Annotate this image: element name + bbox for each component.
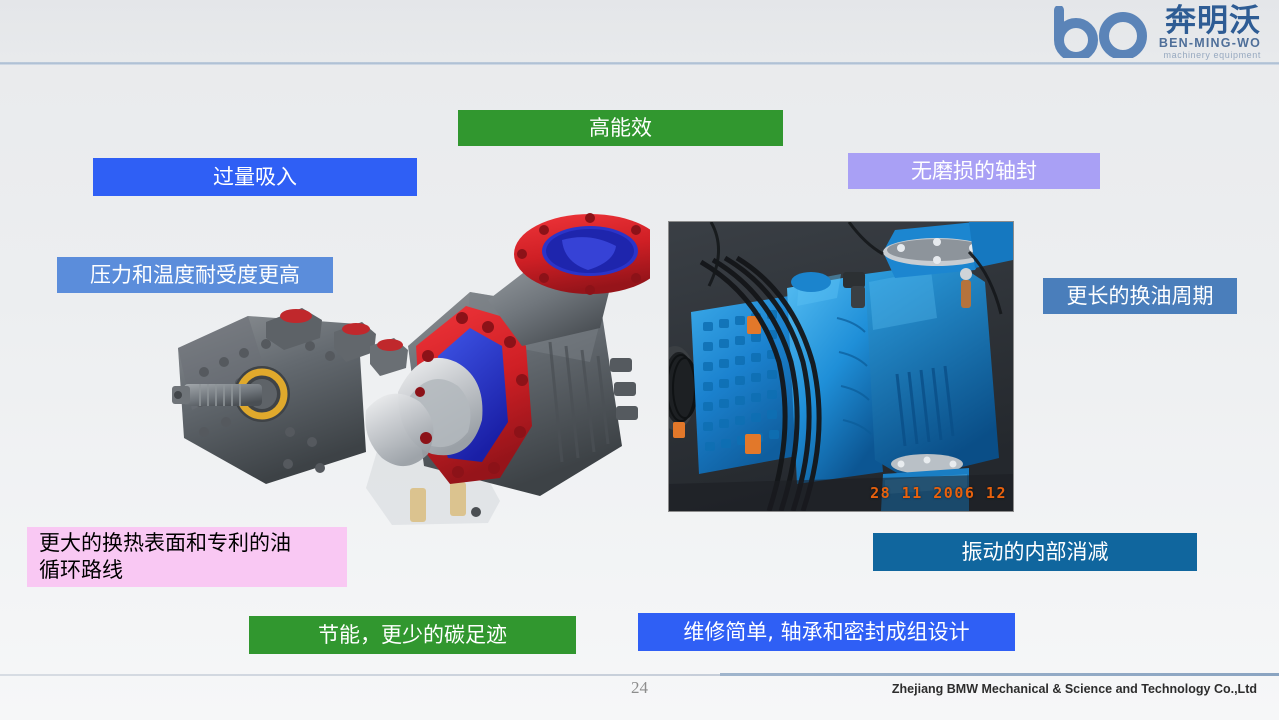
callout-label-larger-heat-exchange-surface[interactable]: 更大的换热表面和专利的油 循环路线 <box>27 527 347 587</box>
logo-tagline: machinery equipment <box>1164 50 1261 60</box>
company-logo: 奔明沃 BEN-MING-WO machinery equipment <box>1045 4 1263 60</box>
callout-label-internal-vibration-reduction[interactable]: 振动的内部消减 <box>873 533 1197 571</box>
callout-label-longer-oil-change-cycle[interactable]: 更长的换油周期 <box>1043 278 1237 314</box>
cad-render-figure <box>170 196 650 541</box>
footer-company-name: Zhejiang BMW Mechanical & Science and Te… <box>892 682 1257 696</box>
callout-label-easy-maintenance[interactable]: 维修简单, 轴承和密封成组设计 <box>638 613 1015 651</box>
callout-label-energy-saving-low-carbon[interactable]: 节能，更少的碳足迹 <box>249 616 576 654</box>
callout-label-over-suction[interactable]: 过量吸入 <box>93 158 417 196</box>
callout-label-wear-free-shaft-seal[interactable]: 无磨损的轴封 <box>848 153 1100 189</box>
header-divider <box>0 62 1279 65</box>
footer-divider-left <box>0 674 720 676</box>
logo-chinese-name: 奔明沃 <box>1165 4 1261 38</box>
callout-label-high-efficiency[interactable]: 高能效 <box>458 110 783 146</box>
logo-english-name: BEN-MING-WO <box>1159 37 1261 50</box>
screw-compressor-cad-icon <box>170 196 650 541</box>
slide-canvas: 奔明沃 BEN-MING-WO machinery equipment <box>0 0 1279 720</box>
blue-compressor-photo-icon <box>669 222 1013 511</box>
footer-divider-right <box>720 673 1279 676</box>
callout-label-higher-pressure-temperature[interactable]: 压力和温度耐受度更高 <box>57 257 333 293</box>
photo-date-stamp: 28 11 2006 12 <box>870 484 1007 502</box>
compressor-photo-figure: 28 11 2006 12 <box>668 221 1014 512</box>
